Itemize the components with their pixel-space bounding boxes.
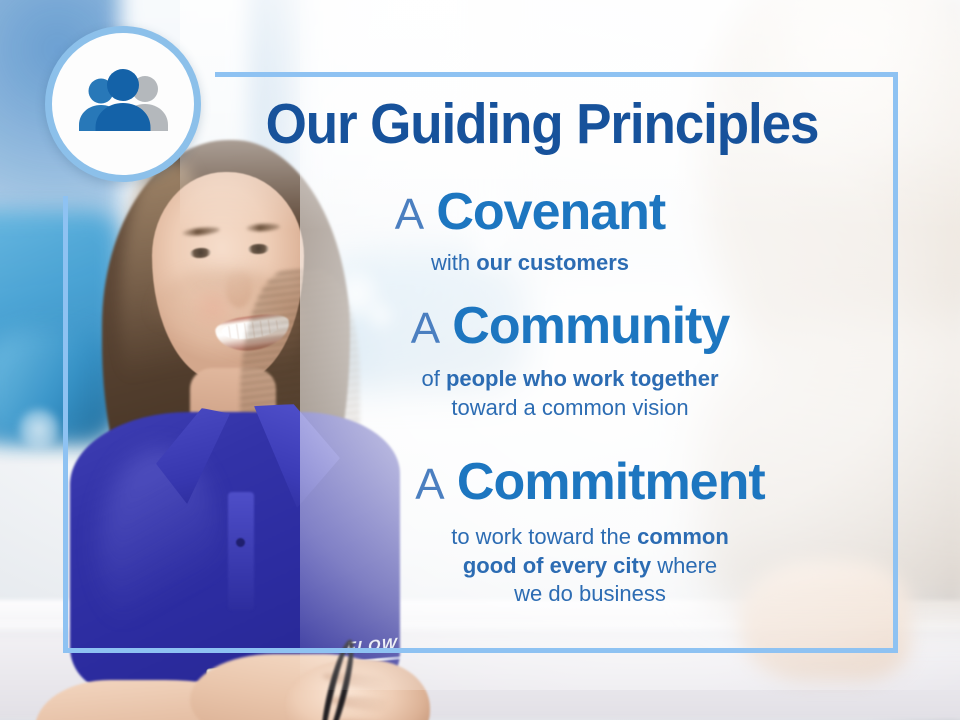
plain-text: to work toward the	[451, 524, 637, 549]
principle-keyword: Community	[452, 297, 729, 355]
principle-article: A	[411, 304, 440, 353]
page-title: Our Guiding Principles	[244, 96, 839, 153]
frame-border-right	[893, 72, 898, 653]
plain-text: we do business	[514, 581, 666, 606]
principle-subline: we do business	[290, 580, 890, 609]
principle-article: A	[395, 190, 424, 239]
guiding-principles-graphic: FLOW FLOW AUTOMOTIVE	[0, 0, 960, 720]
principle-subline: good of every city where	[290, 552, 890, 581]
polo-sheen	[100, 450, 220, 650]
plain-text: with	[431, 250, 476, 275]
plain-text: toward a common vision	[451, 395, 688, 420]
principle-covenant: A Covenant with our customers	[220, 186, 840, 278]
emphasis-text: good of every city	[463, 553, 651, 578]
principle-headline: A Community	[260, 300, 880, 353]
polo-button	[236, 538, 245, 547]
principle-subline: of people who work together	[260, 365, 880, 394]
plain-text: of	[421, 366, 445, 391]
principle-commitment: A Commitment to work toward the common g…	[290, 456, 890, 609]
emphasis-text: people who work together	[446, 366, 719, 391]
emphasis-text: our customers	[476, 250, 629, 275]
principle-keyword: Commitment	[457, 453, 765, 511]
frame-border-bottom	[63, 648, 898, 653]
principle-subline: to work toward the common	[290, 523, 890, 552]
principle-subline: with our customers	[220, 249, 840, 278]
principle-headline: A Covenant	[220, 186, 840, 239]
principle-community: A Community of people who work together …	[260, 300, 880, 422]
principle-article: A	[415, 460, 444, 509]
people-badge	[45, 26, 201, 182]
principle-headline: A Commitment	[290, 456, 890, 509]
principle-subline: toward a common vision	[260, 394, 880, 423]
frame-border-top	[215, 72, 898, 77]
people-group-icon	[75, 69, 171, 139]
plain-text: where	[651, 553, 717, 578]
principle-keyword: Covenant	[436, 183, 665, 241]
emphasis-text: common	[637, 524, 729, 549]
polo-placket	[228, 492, 254, 610]
frame-border-left	[63, 196, 68, 653]
